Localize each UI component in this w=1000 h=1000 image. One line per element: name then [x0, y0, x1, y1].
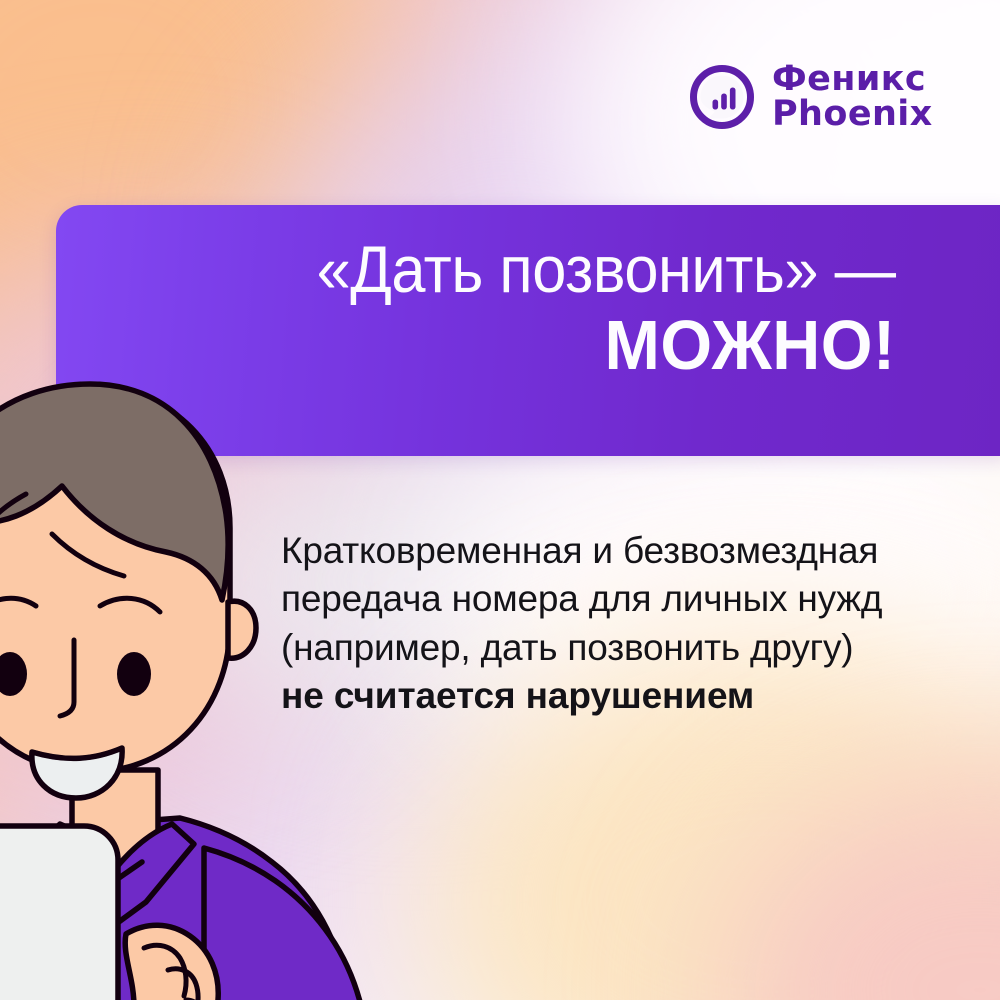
ear-right: [228, 601, 256, 658]
headline-banner-text: «Дать позвонить» — МОЖНО!: [273, 235, 896, 382]
person-illustration: [0, 378, 464, 1000]
headline-line-2: МОЖНО!: [305, 308, 896, 382]
brand-name-en: Phoenix: [772, 97, 933, 132]
brand-logo[interactable]: Феникс Phoenix: [686, 61, 933, 133]
headline-line-1: «Дать позвонить» —: [317, 235, 896, 304]
eye-right: [117, 652, 151, 696]
smartphone: [0, 826, 118, 1000]
phoenix-logo-icon: [686, 61, 758, 133]
brand-logo-wordmark: Феникс Phoenix: [772, 62, 933, 131]
brand-name-ru: Феникс: [772, 62, 933, 97]
social-card-canvas: Феникс Phoenix «Дать позвонить» — МОЖНО!…: [0, 0, 1000, 1000]
